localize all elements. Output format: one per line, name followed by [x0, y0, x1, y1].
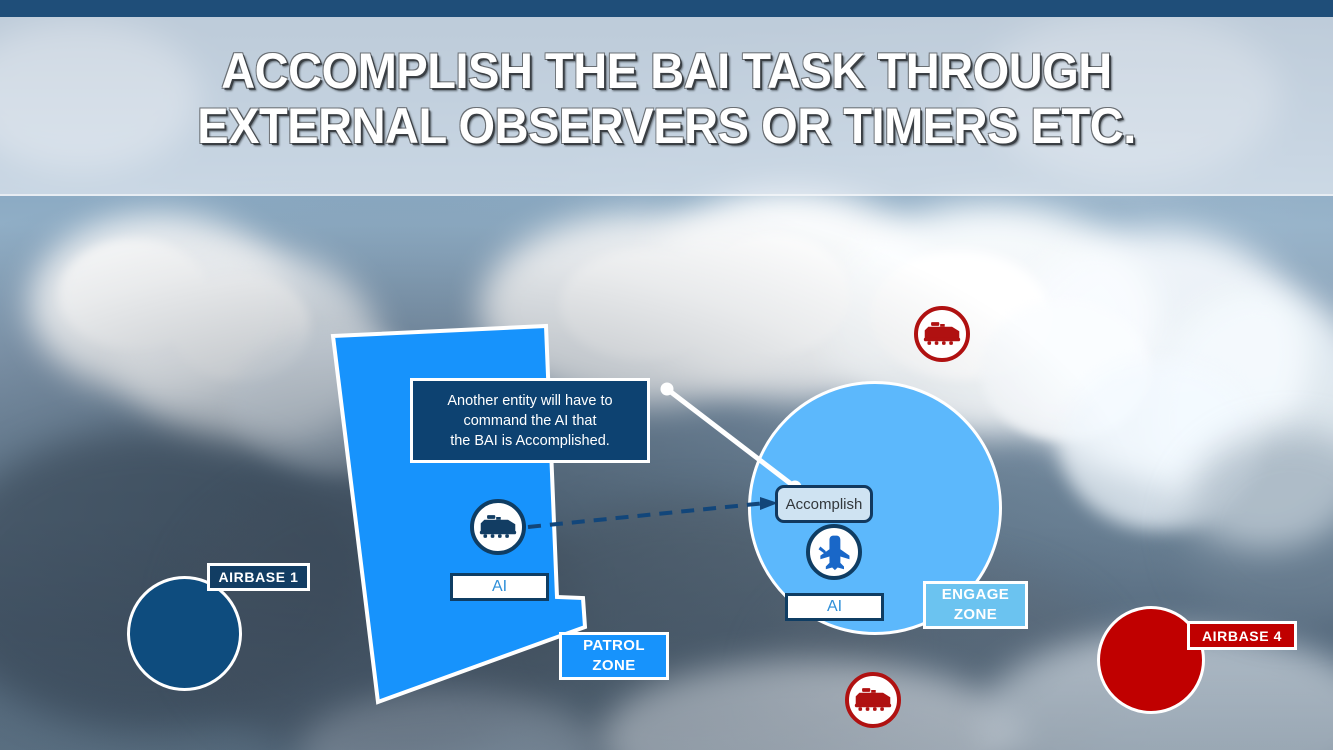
page-title: ACCOMPLISH THE BAI TASK THROUGH EXTERNAL… [40, 44, 1293, 154]
airbase-1-label[interactable]: AIRBASE 1 [207, 563, 310, 591]
armored-vehicle-icon[interactable] [845, 672, 901, 728]
airbase-4-label[interactable]: AIRBASE 4 [1187, 621, 1297, 650]
fighter-jet-icon[interactable] [806, 524, 862, 580]
top-accent-bar [0, 0, 1333, 17]
callout-textbox: Another entity will have to command the … [410, 378, 650, 463]
ai-unit-label-right[interactable]: AI [785, 593, 884, 621]
airbase-1-circle[interactable] [127, 576, 242, 691]
title-band-rule [0, 194, 1333, 196]
armored-vehicle-icon[interactable] [470, 499, 526, 555]
armored-vehicle-icon[interactable] [914, 306, 970, 362]
ai-unit-label-left[interactable]: AI [450, 573, 549, 601]
slide-canvas: ACCOMPLISH THE BAI TASK THROUGH EXTERNAL… [0, 0, 1333, 750]
patrol-zone-label[interactable]: PATROL ZONE [559, 632, 669, 680]
accomplish-task-node[interactable]: Accomplish [775, 485, 873, 523]
engage-zone-label[interactable]: ENGAGE ZONE [923, 581, 1028, 629]
